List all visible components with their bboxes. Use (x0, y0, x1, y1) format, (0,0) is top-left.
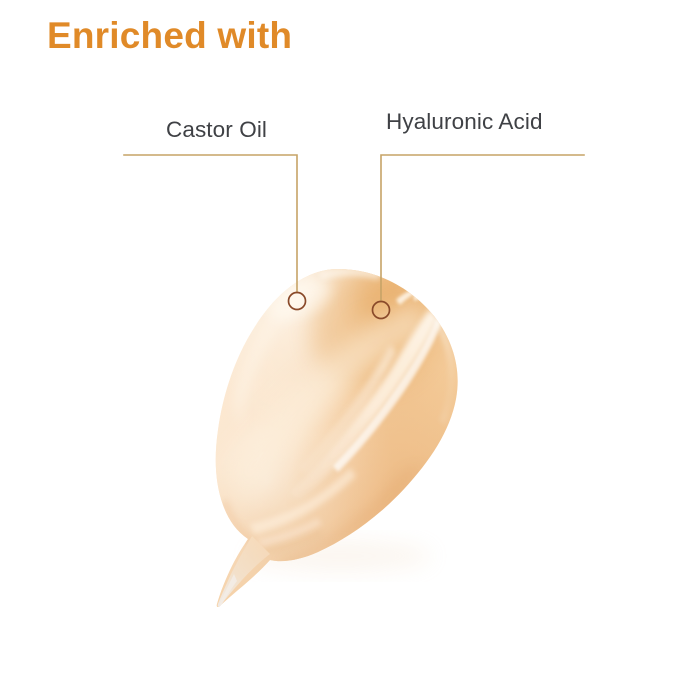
callout-leader-lines (0, 0, 679, 679)
marker-circle-hyaluronic-acid (373, 302, 390, 319)
swatch-body (216, 269, 458, 607)
callout-label-hyaluronic-acid: Hyaluronic Acid (386, 111, 543, 134)
cream-swatch (0, 0, 679, 679)
leader-castor-oil (124, 155, 306, 310)
marker-circle-castor-oil (289, 293, 306, 310)
page-title: Enriched with (47, 14, 292, 58)
leader-hyaluronic-acid (373, 155, 585, 319)
swatch-tail (218, 536, 270, 607)
callout-label-castor-oil: Castor Oil (166, 119, 267, 142)
infographic-canvas: Enriched with (0, 0, 679, 679)
